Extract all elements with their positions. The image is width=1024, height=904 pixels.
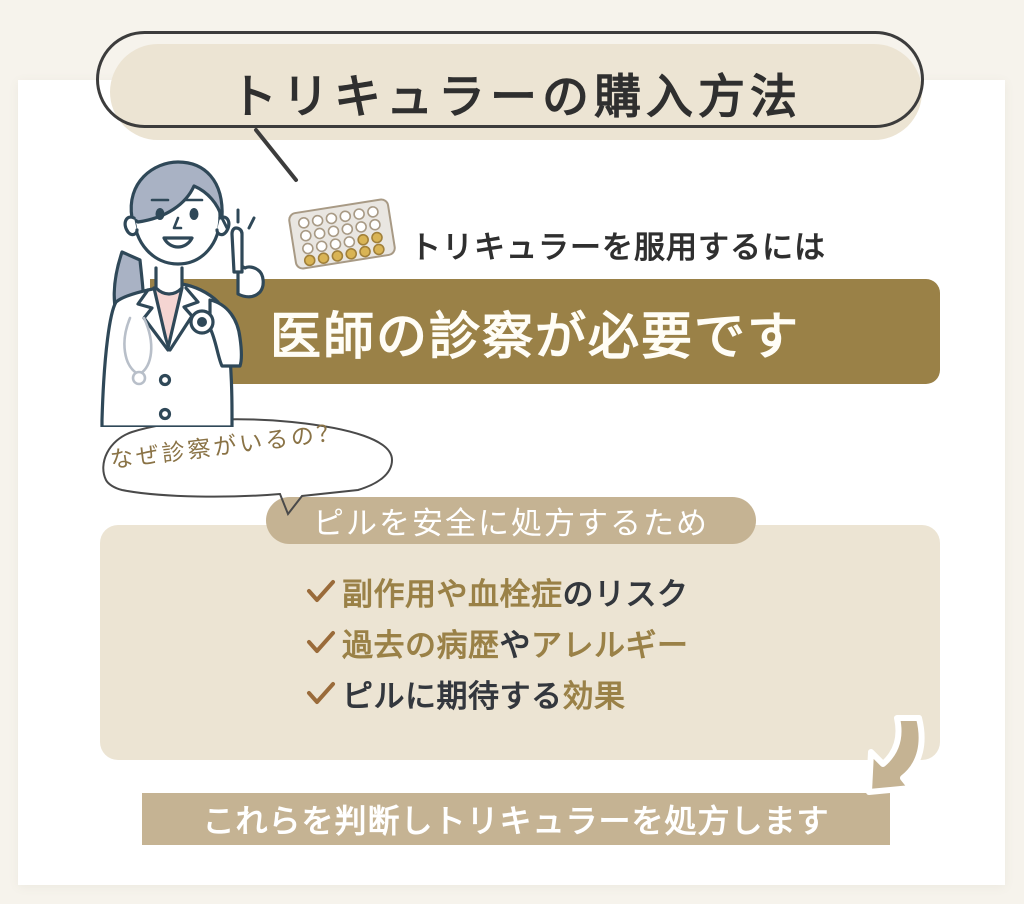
list-item-segment: 副作用や血栓症 xyxy=(342,577,563,612)
list-item-segment: や xyxy=(500,628,532,663)
reasons-list: 副作用や血栓症のリスク 過去の病歴やアレルギー ピルに期待する効果 xyxy=(300,566,860,719)
list-item-label: ピルに期待する効果 xyxy=(342,671,626,716)
page-title: トリキュラーの購入方法 xyxy=(110,44,922,140)
footer-banner-text: これらを判断しトリキュラーを処方します xyxy=(202,796,829,842)
list-item-segment: ピルに期待する xyxy=(342,679,563,714)
list-item: 過去の病歴やアレルギー xyxy=(300,617,860,668)
check-icon xyxy=(300,630,342,656)
infographic-root: トリキュラーの購入方法 xyxy=(0,0,1024,904)
hero-sub-heading: トリキュラーを服用するには xyxy=(410,222,826,267)
female-doctor-pointing-up-icon xyxy=(82,152,292,427)
list-item-segment: アレルギー xyxy=(531,628,689,663)
list-item-segment: 効果 xyxy=(563,679,626,714)
check-icon xyxy=(300,579,342,605)
list-item-segment: のリスク xyxy=(563,577,689,612)
footer-banner: これらを判断しトリキュラーを処方します xyxy=(142,793,890,845)
list-item: ピルに期待する効果 xyxy=(300,668,860,719)
list-item-label: 過去の病歴やアレルギー xyxy=(342,620,689,665)
list-item-segment: 過去の病歴 xyxy=(342,628,500,663)
curved-arrow-down-left-icon xyxy=(845,712,945,804)
contraceptive-pill-blister-pack-icon xyxy=(282,192,402,277)
hero-band-text: 医師の診察が必要です xyxy=(270,279,940,384)
list-item-label: 副作用や血栓症のリスク xyxy=(342,569,689,614)
check-icon xyxy=(300,681,342,707)
list-item: 副作用や血栓症のリスク xyxy=(300,566,860,617)
